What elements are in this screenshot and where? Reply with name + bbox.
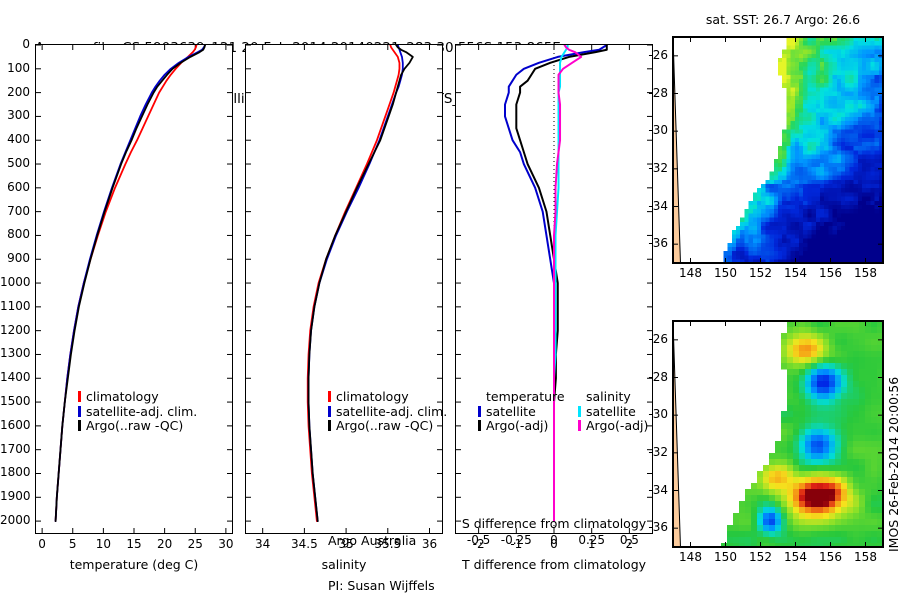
longitude-tick-label: 152	[744, 550, 778, 564]
salinity-panel	[245, 44, 443, 534]
credit-line-1: Argo Australia	[328, 533, 435, 548]
longitude-tick-label: 158	[849, 550, 883, 564]
imos-timestamp: IMOS 26-Feb-2014 20:00:56	[886, 377, 900, 552]
depth-tick-label: 600	[0, 180, 30, 194]
depth-tick-label: 100	[0, 61, 30, 75]
legend-item-argo-adj-temperature: Argo(-adj)	[478, 419, 565, 434]
difference-s-axis-label: S difference from climatology	[455, 516, 653, 531]
depth-tick-label: 1900	[0, 489, 30, 503]
temperature-tick-label: 20	[150, 537, 180, 551]
t-difference-tick-label: 0	[539, 537, 569, 551]
difference-panel	[455, 44, 653, 534]
latitude-tick-label: -26	[630, 48, 668, 62]
longitude-tick-label: 152	[744, 266, 778, 280]
latitude-tick-label: -32	[630, 445, 668, 459]
depth-tick-label: 1800	[0, 465, 30, 479]
temperature-legend: climatology satellite-adj. clim. Argo(..…	[78, 390, 197, 434]
legend-swatch-argo-adj-temperature	[478, 420, 481, 431]
legend-item-satellite-adj-clim: satellite-adj. clim.	[78, 405, 197, 420]
difference-t-axis-label: T difference from climatology	[455, 557, 653, 572]
longitude-tick-label: 154	[779, 550, 813, 564]
sla-map-image	[673, 321, 883, 547]
sst-map-panel	[672, 36, 884, 264]
legend-swatch-satellite-temperature	[478, 406, 481, 417]
salinity-plot-area	[246, 45, 442, 533]
legend-swatch-climatology	[78, 391, 81, 402]
salinity-tick-label: 34	[243, 537, 283, 551]
legend-swatch-satellite-salinity	[578, 406, 581, 417]
depth-tick-label: 500	[0, 156, 30, 170]
depth-tick-label: 300	[0, 108, 30, 122]
legend-item-satellite-temperature: satellite	[478, 405, 565, 420]
depth-tick-label: 400	[0, 132, 30, 146]
temperature-tick-label: 5	[58, 537, 88, 551]
depth-tick-label: 1500	[0, 394, 30, 408]
depth-tick-label: 1700	[0, 442, 30, 456]
depth-tick-label: 0	[0, 37, 30, 51]
t-difference-tick-label: -1	[501, 537, 531, 551]
legend-header-temperature: temperature	[486, 390, 565, 405]
latitude-tick-label: -28	[630, 370, 668, 384]
sst-map-image	[673, 37, 883, 263]
salinity-tick-label: 34.5	[284, 537, 324, 551]
depth-tick-label: 1000	[0, 275, 30, 289]
sla-map-panel	[672, 320, 884, 548]
depth-tick-label: 200	[0, 85, 30, 99]
difference-plot-area	[456, 45, 652, 533]
difference-legend-temperature: temperature satellite Argo(-adj)	[478, 390, 565, 434]
longitude-tick-label: 148	[674, 550, 708, 564]
legend-swatch-argo-adj-salinity	[578, 420, 581, 431]
depth-tick-label: 1100	[0, 299, 30, 313]
longitude-tick-label: 156	[814, 266, 848, 280]
latitude-tick-label: -36	[630, 520, 668, 534]
sst-map-title: sat. SST: 26.7 Argo: 26.6	[668, 12, 898, 27]
longitude-tick-label: 150	[709, 550, 743, 564]
legend-item-argo-raw-sal: Argo(..raw -QC)	[328, 419, 447, 434]
longitude-tick-label: 148	[674, 266, 708, 280]
temperature-tick-label: 0	[27, 537, 57, 551]
legend-item-argo-raw: Argo(..raw -QC)	[78, 419, 197, 434]
t-difference-tick-label: 2	[614, 537, 644, 551]
longitude-tick-label: 150	[709, 266, 743, 280]
legend-swatch-satellite-adj-clim-sal	[328, 406, 331, 417]
longitude-tick-label: 154	[779, 266, 813, 280]
latitude-tick-label: -28	[630, 86, 668, 100]
legend-swatch-argo-raw	[78, 420, 81, 431]
depth-tick-label: 2000	[0, 513, 30, 527]
latitude-tick-label: -34	[630, 199, 668, 213]
latitude-tick-label: -26	[630, 332, 668, 346]
credit-line-2: PI: Susan Wijffels	[328, 578, 435, 593]
legend-swatch-argo-raw-sal	[328, 420, 331, 431]
legend-swatch-satellite-adj-clim	[78, 406, 81, 417]
legend-header-salinity: salinity	[586, 390, 648, 405]
latitude-tick-label: -36	[630, 236, 668, 250]
depth-tick-label: 800	[0, 227, 30, 241]
credit-block: Argo Australia PI: Susan Wijffels	[328, 503, 435, 608]
depth-tick-label: 1400	[0, 370, 30, 384]
temperature-tick-label: 10	[88, 537, 118, 551]
longitude-tick-label: 158	[849, 266, 883, 280]
temperature-tick-label: 30	[211, 537, 241, 551]
latitude-tick-label: -34	[630, 483, 668, 497]
temperature-axis-label: temperature (deg C)	[35, 557, 233, 572]
depth-tick-label: 700	[0, 204, 30, 218]
t-difference-tick-label: -2	[464, 537, 494, 551]
latitude-tick-label: -32	[630, 161, 668, 175]
legend-item-climatology: climatology	[78, 390, 197, 405]
temperature-plot-area	[36, 45, 232, 533]
temperature-tick-label: 15	[119, 537, 149, 551]
t-difference-tick-label: 1	[577, 537, 607, 551]
latitude-tick-label: -30	[630, 123, 668, 137]
temperature-panel	[35, 44, 233, 534]
legend-swatch-climatology-sal	[328, 391, 331, 402]
temperature-tick-label: 25	[180, 537, 210, 551]
legend-item-climatology-sal: climatology	[328, 390, 447, 405]
latitude-tick-label: -30	[630, 407, 668, 421]
salinity-legend: climatology satellite-adj. clim. Argo(..…	[328, 390, 447, 434]
depth-tick-label: 1600	[0, 418, 30, 432]
legend-item-argo-adj-salinity: Argo(-adj)	[578, 419, 648, 434]
depth-tick-label: 1200	[0, 323, 30, 337]
longitude-tick-label: 156	[814, 550, 848, 564]
legend-item-satellite-adj-clim-sal: satellite-adj. clim.	[328, 405, 447, 420]
depth-tick-label: 1300	[0, 346, 30, 360]
depth-tick-label: 900	[0, 251, 30, 265]
